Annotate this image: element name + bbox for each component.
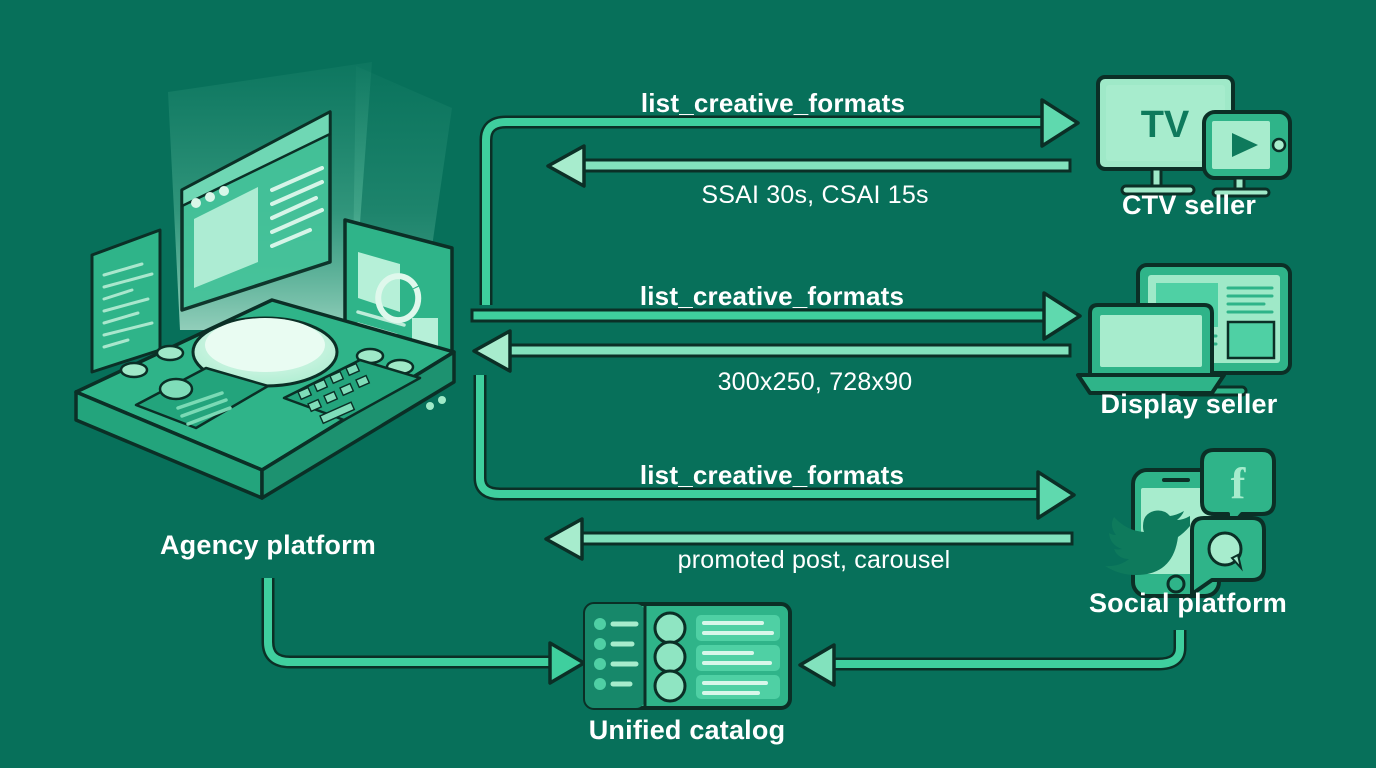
flow-social-request-label: list_creative_formats	[640, 460, 904, 491]
node-label-catalog: Unified catalog	[589, 715, 786, 746]
flow-display-response-arrow	[474, 331, 1070, 371]
catalog-panel-icon	[585, 604, 790, 708]
facebook-glyph: f	[1231, 459, 1247, 508]
node-label-social: Social platform	[1089, 588, 1287, 619]
tv-screen-text: TV	[1141, 104, 1190, 146]
agency-console-icon	[76, 62, 454, 498]
flow-social-response-label: promoted post, carousel	[678, 546, 951, 575]
flow-ctv-response-arrow	[548, 146, 1070, 186]
flow-display-response-label: 300x250, 728x90	[718, 368, 913, 397]
tv-and-device-icon: TV	[1098, 77, 1290, 196]
flow-ctv-request-label: list_creative_formats	[641, 88, 905, 119]
connector-social-to-catalog	[800, 630, 1180, 685]
monitor-and-laptop-icon	[1078, 265, 1290, 395]
connector-agency-to-catalog	[268, 578, 584, 683]
flow-display-request-label: list_creative_formats	[640, 281, 904, 312]
flow-ctv-response-label: SSAI 30s, CSAI 15s	[701, 181, 928, 210]
phone-and-social-bubbles-icon: f	[1105, 450, 1274, 596]
diagram-canvas: TV	[0, 0, 1376, 768]
node-label-display: Display seller	[1101, 389, 1278, 420]
node-label-agency: Agency platform	[160, 530, 376, 561]
node-label-ctv: CTV seller	[1122, 190, 1256, 221]
